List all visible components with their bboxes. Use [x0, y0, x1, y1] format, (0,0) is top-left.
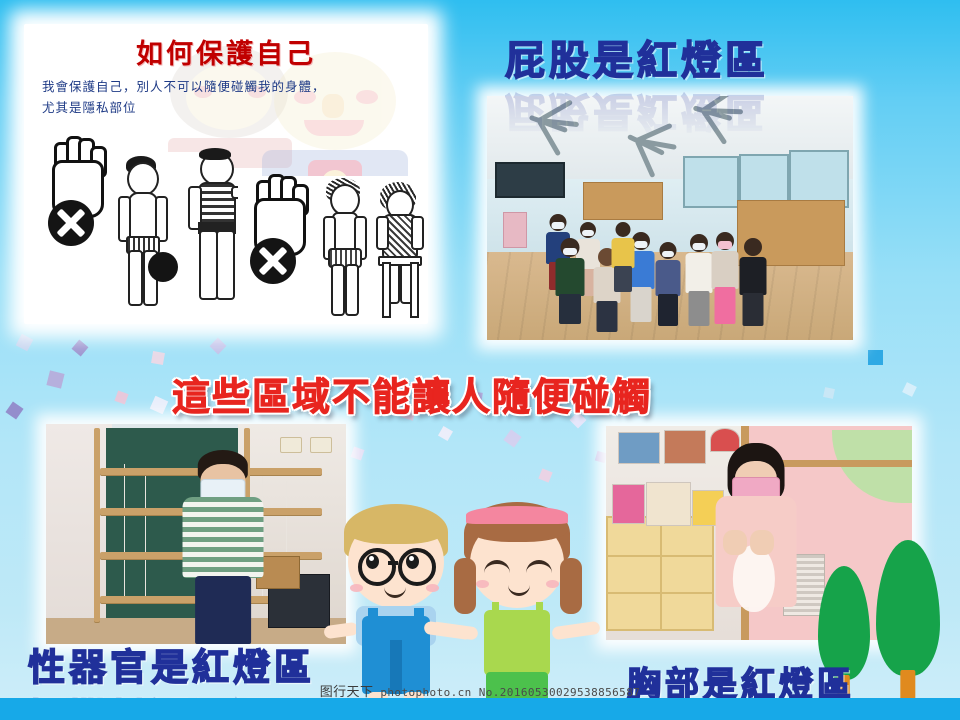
girl-figure — [710, 443, 802, 640]
classroom-child — [685, 234, 713, 326]
slide-canvas: 如何保護自己 我會保護自己，別人不可以隨便碰觸我的身體， 尤其是隱私部位 — [0, 0, 960, 720]
classroom-child — [739, 238, 767, 326]
tree-crown — [876, 540, 940, 676]
wall-picture — [618, 432, 660, 464]
boy-photo — [46, 424, 346, 644]
cartoon-girl-cheek — [546, 580, 559, 588]
confetti-square — [151, 351, 165, 365]
lineart-girl-standing — [314, 178, 372, 318]
confetti-square — [438, 426, 453, 441]
cartoon-girl-cheek — [476, 580, 489, 588]
title-do-not-touch-these-areas: 這些區域不能讓人隨便碰觸 — [172, 366, 652, 421]
confetti-square — [72, 340, 89, 357]
poster-title: 如何保護自己 — [24, 32, 428, 71]
classroom-child — [655, 242, 681, 326]
cartoon-girl-braid — [560, 558, 582, 614]
cartoon-girl-strap — [492, 602, 499, 616]
boy-striped-shirt — [183, 497, 264, 578]
stop-hand-icon-right — [244, 198, 310, 282]
title-buttocks-red-light-zone: 屁股是紅燈區 屁股是紅燈區 — [505, 28, 769, 86]
protect-yourself-poster: 如何保護自己 我會保護自己，別人不可以隨便碰觸我的身體， 尤其是隱私部位 — [24, 24, 428, 324]
bottom-blue-band — [0, 698, 960, 720]
confetti-square — [902, 382, 917, 397]
cartoon-girl-strap — [536, 602, 543, 616]
boy-photo-wall-left — [46, 424, 112, 644]
wall-picture — [664, 430, 706, 464]
girl-hand — [750, 530, 774, 556]
girl-hand — [723, 530, 747, 556]
light-switch[interactable] — [310, 437, 332, 453]
classroom-child — [611, 222, 635, 292]
hanging-string — [124, 464, 125, 600]
cartoon-boy-eye — [406, 554, 419, 569]
lineart-boy-in-underwear — [110, 156, 172, 306]
stop-hand-icon-left — [42, 160, 108, 244]
confetti-square — [868, 350, 883, 365]
toy-shelf — [606, 516, 714, 631]
hanging-bag — [646, 482, 691, 527]
confetti-square — [210, 338, 227, 355]
confetti-square — [503, 429, 521, 447]
cartoon-girl-arm — [551, 621, 600, 641]
confetti-square — [823, 387, 835, 399]
poster-subtitle: 我會保護自己，別人不可以隨便碰觸我的身體， 尤其是隱私部位 — [42, 76, 412, 118]
hanging-string — [145, 472, 146, 595]
confetti-square — [538, 468, 552, 482]
classroom-shelf — [583, 182, 663, 220]
cartoon-girl-braid — [454, 558, 476, 614]
confetti-square — [351, 447, 365, 461]
boy-pants — [195, 576, 251, 644]
cartoon-boy-overall-strap — [368, 608, 378, 624]
confetti-square — [16, 334, 34, 352]
boy-figure — [178, 450, 268, 644]
confetti-square — [46, 370, 64, 388]
classroom-child — [711, 232, 739, 324]
cartoon-boy-cheek — [426, 584, 439, 592]
light-switch[interactable] — [280, 437, 302, 453]
cartoon-boy-fringe — [346, 510, 446, 544]
cartoon-girl-headband — [466, 506, 568, 524]
lineart-girl-on-stool — [370, 182, 426, 316]
girl-lace-apron — [733, 545, 775, 612]
poster-subtitle-line-1: 我會保護自己，別人不可以隨便碰觸我的身體， — [42, 76, 412, 97]
classroom-window — [683, 156, 739, 208]
hanging-bag — [612, 484, 645, 525]
cartoon-boy-cheek — [350, 584, 363, 592]
confetti-square — [150, 396, 168, 414]
title-buttocks-text: 屁股是紅燈區 — [505, 38, 769, 84]
poster-subtitle-line-2: 尤其是隱私部位 — [42, 97, 412, 118]
tree-decoration — [876, 540, 940, 702]
cartoon-boy-overall-strap — [414, 608, 424, 624]
wooden-post — [94, 428, 100, 622]
cartoon-boy-eye — [366, 554, 379, 569]
confetti-square — [114, 390, 128, 404]
classroom-child — [555, 238, 585, 324]
classroom-chair — [503, 212, 527, 248]
cartoon-girl-tank-top — [484, 610, 550, 676]
title-buttocks-reflection: 屁股是紅燈區 — [505, 86, 769, 144]
confetti-square — [5, 401, 23, 419]
classroom-blackboard — [495, 162, 565, 198]
